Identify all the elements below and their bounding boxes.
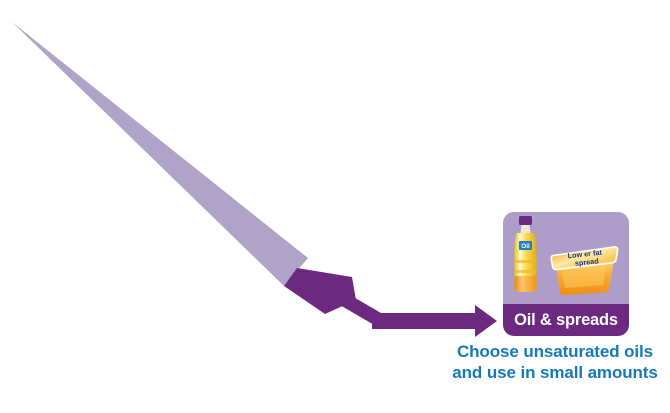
connector-shaft [372, 313, 482, 329]
caption-line-1: Choose unsaturated oils [440, 341, 670, 362]
food-illustrations: Oil Low er fat spread [503, 212, 629, 304]
segment-band-light [12, 22, 308, 286]
caption-block: Choose unsaturated oils and use in small… [440, 341, 670, 383]
food-group-card-oil-and-spreads[interactable]: Oil Low er fat spread Oil & spreads [503, 212, 629, 336]
card-label-text: Oil & spreads [514, 312, 618, 329]
spread-tub-icon: Low er fat spread [551, 247, 617, 295]
connector-arrowhead [475, 305, 497, 337]
bottle-label-text: Oil [521, 243, 530, 250]
card-label-band: Oil & spreads [503, 304, 629, 336]
diagram-canvas: Oil Low er fat spread Oil & spreads Choo… [0, 0, 670, 413]
caption-line-2: and use in small amounts [440, 362, 670, 383]
oil-bottle-icon: Oil [514, 216, 536, 292]
